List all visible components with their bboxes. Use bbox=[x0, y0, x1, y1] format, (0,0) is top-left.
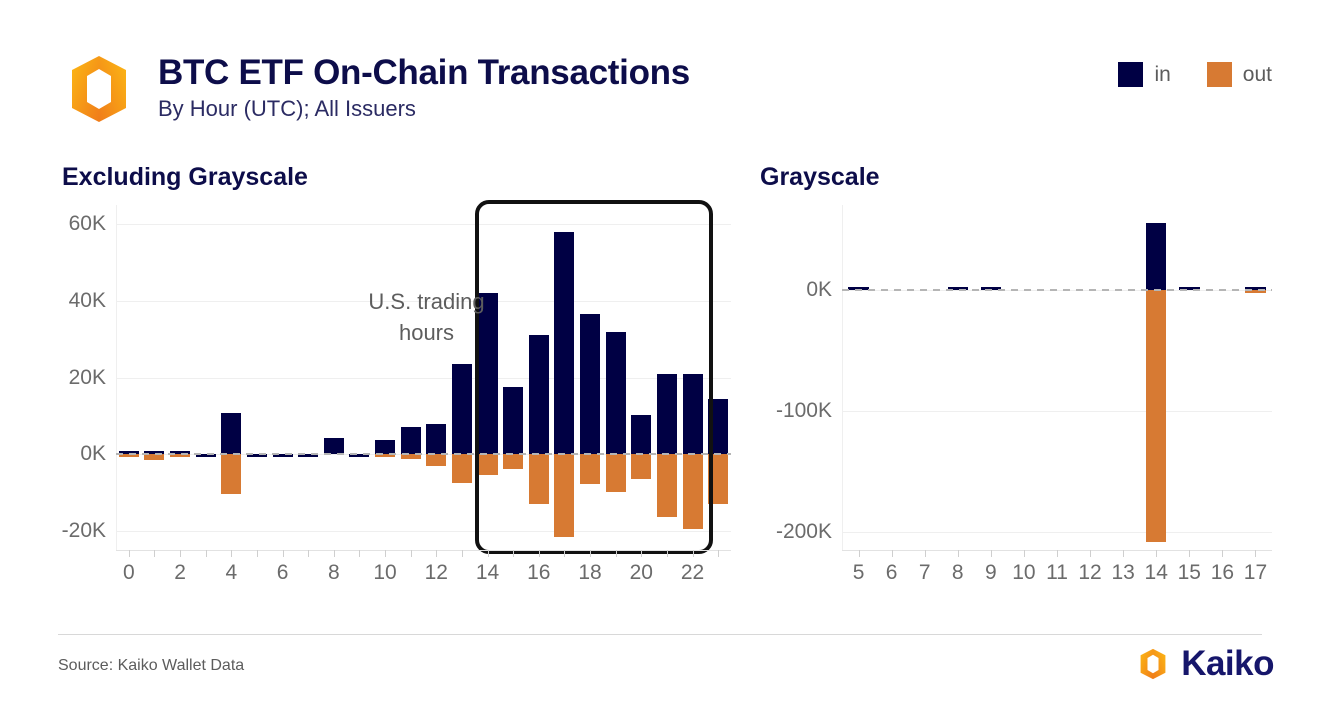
x-axis-tick-label: 17 bbox=[1244, 561, 1267, 585]
x-axis-tick bbox=[385, 550, 386, 557]
panel-heading-excluding-grayscale: Excluding Grayscale bbox=[62, 163, 308, 192]
bar-group[interactable] bbox=[1179, 205, 1200, 550]
x-axis-tick bbox=[925, 550, 926, 557]
x-axis-tick bbox=[693, 550, 694, 557]
page-subtitle: By Hour (UTC); All Issuers bbox=[158, 94, 690, 124]
bar-out[interactable] bbox=[452, 454, 472, 483]
x-axis-tick-label: 12 bbox=[1078, 561, 1101, 585]
bar-group[interactable] bbox=[1014, 205, 1035, 550]
zero-line-left bbox=[116, 453, 731, 455]
y-axis-tick-label: -20K bbox=[48, 519, 106, 543]
bar-out[interactable] bbox=[708, 454, 728, 504]
bar-group[interactable] bbox=[631, 205, 651, 550]
bar-group[interactable] bbox=[529, 205, 549, 550]
bar-in[interactable] bbox=[221, 413, 241, 454]
x-axis-tick-label: 14 bbox=[1145, 561, 1168, 585]
x-axis-tick bbox=[1024, 550, 1025, 557]
footer-brand: Kaiko bbox=[1136, 644, 1274, 684]
bar-group[interactable] bbox=[657, 205, 677, 550]
bar-in[interactable] bbox=[708, 399, 728, 454]
bar-in[interactable] bbox=[375, 440, 395, 454]
bar-group[interactable] bbox=[848, 205, 869, 550]
us-trading-hours-annotation: U.S. trading hours bbox=[342, 286, 512, 348]
x-axis-tick-label: 11 bbox=[1046, 561, 1068, 585]
bar-out[interactable] bbox=[580, 454, 600, 484]
bar-group[interactable] bbox=[298, 205, 318, 550]
bar-group[interactable] bbox=[375, 205, 395, 550]
bar-group[interactable] bbox=[948, 205, 969, 550]
x-axis-tick-label: 15 bbox=[1178, 561, 1201, 585]
x-axis-tick bbox=[231, 550, 232, 557]
bar-group[interactable] bbox=[554, 205, 574, 550]
x-axis-tick-label: 2 bbox=[174, 561, 186, 585]
x-axis-tick bbox=[718, 550, 719, 557]
bar-out[interactable] bbox=[529, 454, 549, 504]
chart-page: BTC ETF On-Chain Transactions By Hour (U… bbox=[0, 0, 1320, 720]
bar-group[interactable] bbox=[196, 205, 216, 550]
x-axis-line-left bbox=[116, 550, 731, 551]
bar-out[interactable] bbox=[657, 454, 677, 517]
bar-in[interactable] bbox=[580, 314, 600, 454]
x-axis-tick-label: 18 bbox=[578, 561, 601, 585]
chart-legend: in out bbox=[1118, 62, 1272, 87]
legend-swatch-in bbox=[1118, 62, 1143, 87]
x-axis-tick-label: 14 bbox=[476, 561, 499, 585]
bar-group[interactable] bbox=[1146, 205, 1167, 550]
bar-out[interactable] bbox=[683, 454, 703, 529]
x-axis-tick bbox=[958, 550, 959, 557]
x-axis-tick-label: 9 bbox=[985, 561, 997, 585]
x-axis-tick-label: 10 bbox=[373, 561, 396, 585]
x-axis-tick-label: 5 bbox=[853, 561, 865, 585]
legend-label-out: out bbox=[1243, 63, 1272, 87]
x-axis-tick-label: 6 bbox=[277, 561, 289, 585]
x-axis-tick bbox=[539, 550, 540, 557]
x-axis-tick bbox=[462, 550, 463, 557]
bar-in[interactable] bbox=[529, 335, 549, 454]
x-axis-tick bbox=[129, 550, 130, 557]
x-axis-tick bbox=[616, 550, 617, 557]
bar-group[interactable] bbox=[683, 205, 703, 550]
bar-in[interactable] bbox=[324, 438, 344, 454]
x-axis-tick bbox=[257, 550, 258, 557]
bar-group[interactable] bbox=[324, 205, 344, 550]
bar-out[interactable] bbox=[554, 454, 574, 536]
zero-line-right bbox=[842, 289, 1272, 291]
x-axis-tick bbox=[590, 550, 591, 557]
plot-area-right bbox=[842, 205, 1272, 550]
page-title: BTC ETF On-Chain Transactions bbox=[158, 52, 690, 94]
bar-group[interactable] bbox=[401, 205, 421, 550]
x-axis-tick bbox=[1189, 550, 1190, 557]
panel-heading-grayscale: Grayscale bbox=[760, 163, 880, 192]
x-axis-right: 567891011121314151617 bbox=[842, 550, 1272, 595]
x-axis-tick bbox=[334, 550, 335, 557]
x-axis-tick-label: 10 bbox=[1012, 561, 1035, 585]
bar-group[interactable] bbox=[452, 205, 472, 550]
bar-series-right bbox=[842, 205, 1272, 550]
x-axis-tick bbox=[564, 550, 565, 557]
x-axis-tick bbox=[1057, 550, 1058, 557]
bar-in[interactable] bbox=[401, 427, 421, 455]
x-axis-tick-label: 6 bbox=[886, 561, 898, 585]
x-axis-tick bbox=[1156, 550, 1157, 557]
x-axis-tick-label: 12 bbox=[425, 561, 448, 585]
bar-group[interactable] bbox=[881, 205, 902, 550]
x-axis-tick bbox=[859, 550, 860, 557]
plot-area-left: U.S. trading hours bbox=[116, 205, 731, 550]
x-axis-tick bbox=[154, 550, 155, 557]
x-axis-left: 0246810121416182022 bbox=[116, 550, 731, 595]
legend-item-in[interactable]: in bbox=[1118, 62, 1170, 87]
x-axis-tick bbox=[206, 550, 207, 557]
x-axis-tick bbox=[1222, 550, 1223, 557]
bar-out[interactable] bbox=[1146, 290, 1167, 542]
bar-out[interactable] bbox=[478, 454, 498, 475]
bar-group[interactable] bbox=[981, 205, 1002, 550]
bar-group[interactable] bbox=[1212, 205, 1233, 550]
x-axis-tick bbox=[283, 550, 284, 557]
bar-in[interactable] bbox=[1146, 223, 1167, 290]
chart-panel-excluding-grayscale: 60K40K20K0K-20K U.S. trading hours 02468… bbox=[48, 205, 738, 595]
x-axis-tick bbox=[411, 550, 412, 557]
bar-group[interactable] bbox=[914, 205, 935, 550]
legend-swatch-out bbox=[1207, 62, 1232, 87]
x-axis-tick-label: 16 bbox=[1211, 561, 1234, 585]
bar-group[interactable] bbox=[247, 205, 267, 550]
bar-in[interactable] bbox=[606, 332, 626, 455]
x-axis-tick-label: 20 bbox=[630, 561, 653, 585]
footer-divider bbox=[58, 634, 1262, 635]
bar-group[interactable] bbox=[144, 205, 164, 550]
x-axis-tick bbox=[180, 550, 181, 557]
bar-group[interactable] bbox=[606, 205, 626, 550]
y-axis-tick-label: 0K bbox=[48, 442, 106, 466]
bar-group[interactable] bbox=[426, 205, 446, 550]
y-axis-tick-label: -200K bbox=[742, 520, 832, 544]
bar-group[interactable] bbox=[349, 205, 369, 550]
kaiko-hexagon-icon bbox=[62, 52, 136, 126]
bar-group[interactable] bbox=[1113, 205, 1134, 550]
bar-out[interactable] bbox=[426, 454, 446, 466]
bar-in[interactable] bbox=[426, 424, 446, 454]
legend-item-out[interactable]: out bbox=[1207, 62, 1272, 87]
x-axis-tick-label: 7 bbox=[919, 561, 931, 585]
kaiko-hexagon-icon bbox=[1136, 647, 1170, 681]
x-axis-tick-label: 22 bbox=[681, 561, 704, 585]
x-axis-tick bbox=[436, 550, 437, 557]
source-text: Source: Kaiko Wallet Data bbox=[58, 657, 244, 675]
x-axis-tick-label: 8 bbox=[952, 561, 964, 585]
bar-in[interactable] bbox=[554, 232, 574, 454]
y-axis-tick-label: 60K bbox=[48, 212, 106, 236]
bar-group[interactable] bbox=[1245, 205, 1266, 550]
x-axis-tick bbox=[1123, 550, 1124, 557]
bar-in[interactable] bbox=[452, 364, 472, 454]
bar-group[interactable] bbox=[708, 205, 728, 550]
bar-group[interactable] bbox=[273, 205, 293, 550]
x-axis-tick bbox=[641, 550, 642, 557]
x-axis-tick bbox=[1255, 550, 1256, 557]
x-axis-tick-label: 4 bbox=[225, 561, 237, 585]
bar-in[interactable] bbox=[503, 387, 523, 454]
bar-group[interactable] bbox=[1080, 205, 1101, 550]
footer-brand-name: Kaiko bbox=[1181, 644, 1274, 684]
bar-group[interactable] bbox=[119, 205, 139, 550]
bar-group[interactable] bbox=[478, 205, 498, 550]
bar-out[interactable] bbox=[503, 454, 523, 469]
bar-series-left bbox=[116, 205, 731, 550]
x-axis-tick bbox=[513, 550, 514, 557]
bar-group[interactable] bbox=[580, 205, 600, 550]
bar-in[interactable] bbox=[631, 415, 651, 454]
x-axis-tick-label: 13 bbox=[1111, 561, 1134, 585]
bar-group[interactable] bbox=[170, 205, 190, 550]
y-axis-tick-label: -100K bbox=[742, 399, 832, 423]
y-axis-tick-label: 0K bbox=[742, 278, 832, 302]
x-axis-tick bbox=[488, 550, 489, 557]
x-axis-tick-label: 8 bbox=[328, 561, 340, 585]
bar-out[interactable] bbox=[221, 454, 241, 493]
header: BTC ETF On-Chain Transactions By Hour (U… bbox=[0, 0, 1320, 150]
bar-group[interactable] bbox=[221, 205, 241, 550]
chart-panel-grayscale: 0K-100K-200K 567891011121314151617 bbox=[742, 205, 1282, 595]
y-axis-tick-label: 20K bbox=[48, 366, 106, 390]
bar-out[interactable] bbox=[631, 454, 651, 479]
title-block: BTC ETF On-Chain Transactions By Hour (U… bbox=[158, 52, 690, 124]
y-axis-tick-label: 40K bbox=[48, 289, 106, 313]
bar-out[interactable] bbox=[606, 454, 626, 492]
x-axis-tick-label: 16 bbox=[527, 561, 550, 585]
x-axis-tick bbox=[667, 550, 668, 557]
bar-in[interactable] bbox=[657, 374, 677, 455]
x-axis-tick bbox=[359, 550, 360, 557]
x-axis-tick bbox=[892, 550, 893, 557]
x-axis-tick bbox=[308, 550, 309, 557]
legend-label-in: in bbox=[1154, 63, 1170, 87]
bar-group[interactable] bbox=[1047, 205, 1068, 550]
x-axis-tick bbox=[991, 550, 992, 557]
bar-group[interactable] bbox=[503, 205, 523, 550]
bar-in[interactable] bbox=[683, 374, 703, 455]
x-axis-tick-label: 0 bbox=[123, 561, 135, 585]
x-axis-tick bbox=[1090, 550, 1091, 557]
